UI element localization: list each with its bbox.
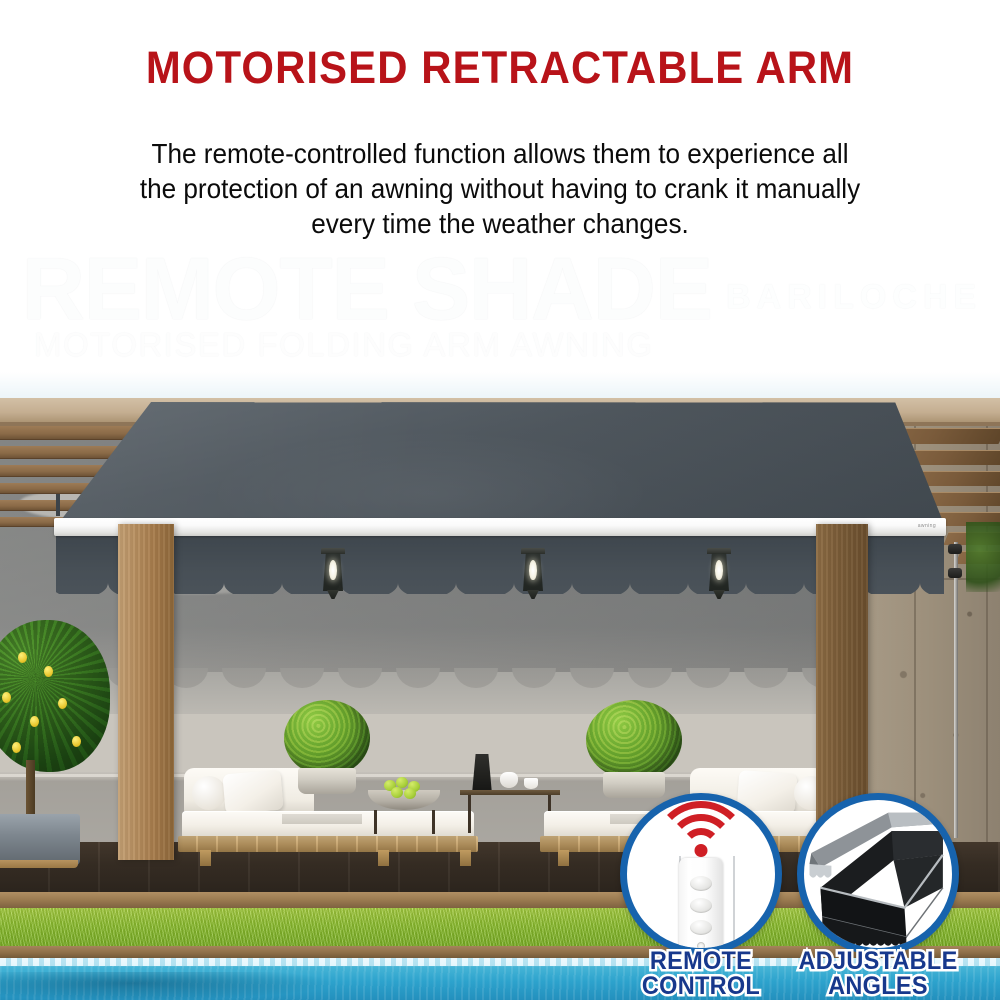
daybed-cushion: [222, 770, 283, 815]
badge-label: ADJUSTABLE ANGLES: [779, 949, 976, 999]
background-foliage: [966, 522, 1000, 592]
header-text-zone: MOTORISED RETRACTABLE ARM The remote-con…: [0, 0, 1000, 372]
lemon-tree-planter-base: [0, 860, 78, 868]
description-line-2: the protection of an awning without havi…: [84, 171, 916, 206]
page-title: MOTORISED RETRACTABLE ARM: [35, 42, 965, 94]
lemon-tree: [0, 620, 114, 866]
lemon-fruit: [30, 716, 39, 727]
wall-lantern: [520, 548, 546, 602]
scallop-lobe: [456, 568, 514, 594]
lantern-base: [527, 590, 539, 599]
remote-right-edge: [733, 856, 735, 955]
topiary-plant: [586, 700, 682, 798]
lantern-base: [713, 590, 725, 599]
scallop-lobe: [166, 568, 224, 594]
daybed-leg: [378, 850, 389, 866]
lemon-fruit: [44, 666, 53, 677]
side-table-leg: [432, 810, 435, 834]
lantern-bulb: [715, 560, 723, 580]
scallop-lobe: [630, 568, 688, 594]
lemon-fruit: [18, 652, 27, 663]
awning-arm: [56, 494, 60, 516]
side-table: [366, 776, 444, 834]
scallop-lobe: [920, 568, 944, 594]
product-marketing-banner: MOTORISED RETRACTABLE ARM The remote-con…: [0, 0, 1000, 1000]
wall-lantern: [320, 548, 346, 602]
badge-adjustable-angles[interactable]: ADJUSTABLE ANGLES: [797, 793, 959, 955]
badge-label: REMOTE CONTROL: [602, 949, 799, 999]
apple: [404, 788, 416, 799]
daybed-bolster: [192, 776, 226, 810]
scallop-lobe: [746, 568, 804, 594]
topiary-foliage: [284, 700, 370, 776]
remote-button: [690, 876, 712, 891]
daybed-leg: [460, 850, 471, 866]
scallop-lobe: [572, 568, 630, 594]
badge-label-line-2: CONTROL: [602, 974, 799, 999]
lantern-base: [327, 590, 339, 599]
pole-bracket: [948, 568, 962, 578]
wall-lantern: [706, 548, 732, 602]
watermark-brand: BARILOCHE: [726, 278, 982, 317]
teacup: [524, 778, 538, 789]
scallop-lobe: [340, 568, 398, 594]
lantern-bulb: [529, 560, 537, 580]
scallop-lobe: [398, 568, 456, 594]
apple: [391, 787, 403, 798]
description-line-1: The remote-controlled function allows th…: [84, 136, 916, 171]
awning-valance-scallop: [56, 568, 944, 594]
coffee-table-leg: [468, 795, 471, 833]
daybed-throw: [282, 814, 362, 824]
daybed-leg: [558, 850, 569, 866]
lemon-tree-planter: [0, 814, 80, 866]
badge-circle: [797, 793, 959, 955]
scallop-lobe: [862, 568, 920, 594]
badge-circle: [620, 793, 782, 955]
remote-button: [690, 920, 712, 935]
side-table-leg: [374, 810, 377, 834]
pergola-post: [118, 524, 174, 860]
description-text: The remote-controlled function allows th…: [84, 136, 916, 241]
stone-seam: [986, 424, 988, 856]
lemon-fruit: [58, 698, 67, 709]
lemon-tree-trunk: [26, 760, 35, 822]
daybed-leg: [200, 850, 211, 866]
daybed-frame: [178, 836, 478, 852]
lemon-fruit: [2, 692, 11, 703]
badge-label-line-1: REMOTE: [602, 949, 799, 974]
badge-label-line-1: ADJUSTABLE: [779, 949, 976, 974]
description-line-3: every time the weather changes.: [84, 206, 916, 241]
watermark-subtitle: MOTORISED FOLDING ARM AWNING: [34, 326, 654, 364]
badge-label-line-2: ANGLES: [779, 974, 976, 999]
front-bar-brand: awning: [918, 523, 936, 529]
pole-bracket: [948, 544, 962, 554]
remote-button: [690, 898, 712, 913]
topiary-pot: [298, 768, 356, 794]
watermark-title: REMOTE SHADE: [22, 238, 712, 340]
lemon-fruit: [72, 736, 81, 747]
pool-shadow: [0, 972, 330, 1000]
awning-canvas-sheen: [58, 402, 944, 524]
lantern-bulb: [329, 560, 337, 580]
topiary-foliage: [586, 700, 682, 780]
watermark: REMOTE SHADE BARILOCHE MOTORISED FOLDING…: [0, 236, 1000, 372]
awning-front-bar: awning: [54, 518, 946, 536]
scallop-lobe: [224, 568, 282, 594]
topiary-plant: [284, 700, 370, 796]
badge-remote-control[interactable]: REMOTE CONTROL: [620, 793, 782, 955]
lemon-fruit: [12, 742, 21, 753]
teapot: [500, 772, 518, 788]
awning-angle-icon: [804, 800, 952, 948]
scallop-lobe: [56, 568, 108, 594]
